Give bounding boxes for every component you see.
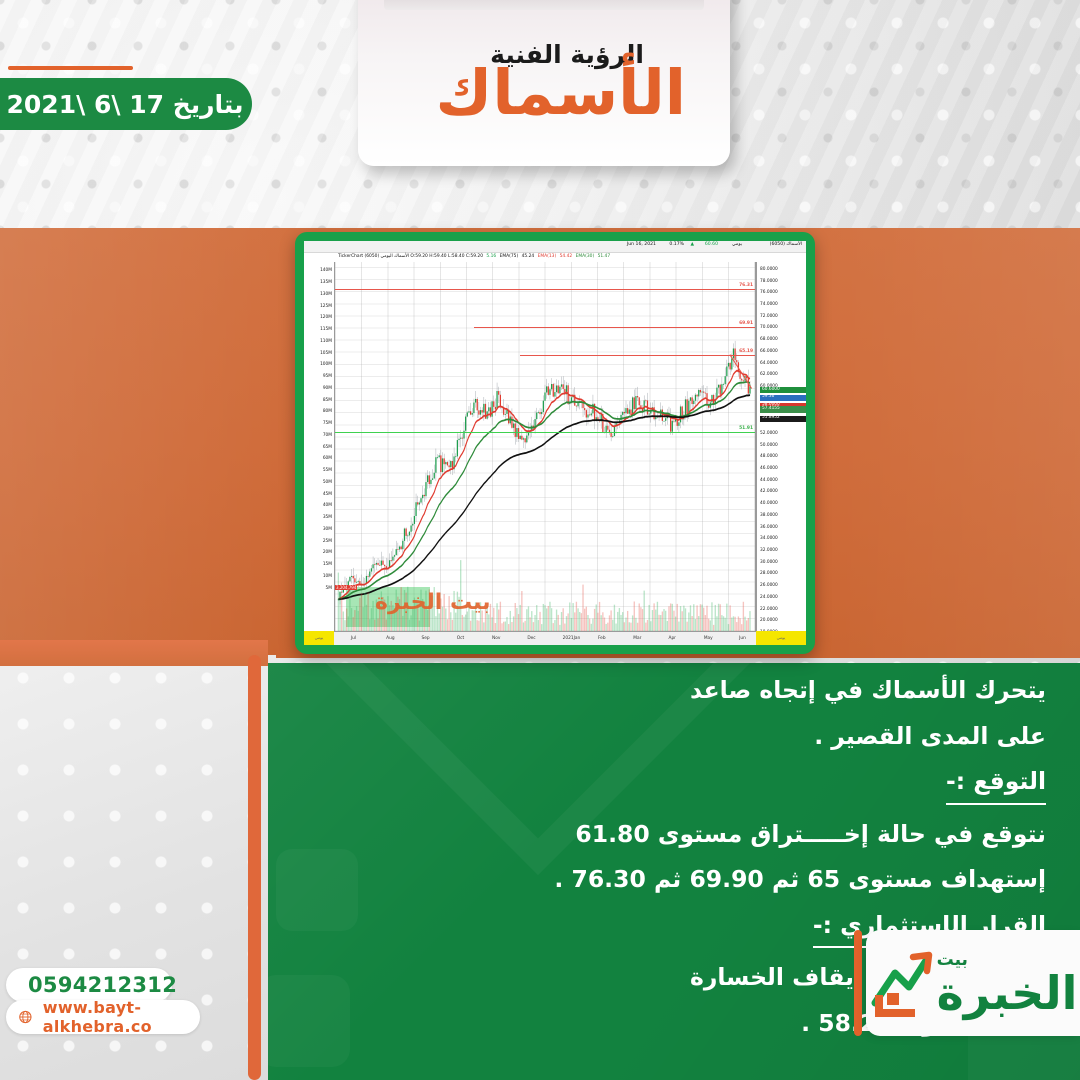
time-axis-right-corner: يومي bbox=[756, 631, 806, 645]
time-axis: JulAugSepOctNovDec2021JanFebMarAprMayJun bbox=[334, 631, 756, 645]
chart-change-arrow-icon: ▲ bbox=[690, 243, 694, 248]
analysis-line-5: إستهداف مستوى 65 ثم 69.90 ثم 76.30 . bbox=[316, 868, 1046, 892]
price-tag: 57.4155 bbox=[760, 406, 806, 412]
price-tick: 42.0000 bbox=[760, 490, 778, 494]
level-line-resistance bbox=[474, 327, 755, 328]
price-tick: 70.0000 bbox=[760, 326, 778, 330]
chart-legend-ema30-value: 51.47 bbox=[598, 254, 611, 259]
price-tick: 44.0000 bbox=[760, 479, 778, 483]
level-line-support bbox=[335, 432, 755, 433]
price-tag: 55.8952 bbox=[760, 416, 806, 422]
ema-line-30 bbox=[338, 382, 750, 599]
price-tick: 36.0000 bbox=[760, 526, 778, 530]
price-tick: 48.0000 bbox=[760, 455, 778, 459]
bottom-left-orange-bar bbox=[0, 640, 268, 666]
price-tick: 34.0000 bbox=[760, 537, 778, 541]
chart-canvas[interactable]: الأسماك (6050) يومي 60.60 ▲ 0.17% Jun 16… bbox=[304, 241, 806, 645]
price-tick: 46.0000 bbox=[760, 467, 778, 471]
volume-tick: 115M bbox=[320, 328, 332, 332]
price-tick: 74.0000 bbox=[760, 303, 778, 307]
whatsapp-number: 0594212312 bbox=[28, 973, 177, 997]
level-line-resistance bbox=[335, 289, 755, 290]
price-tick: 50.0000 bbox=[760, 444, 778, 448]
volume-tick: 55M bbox=[323, 469, 332, 473]
chart-symbol: الأسماك (6050) bbox=[770, 243, 802, 248]
price-tick: 40.0000 bbox=[760, 502, 778, 506]
volume-tick: 45M bbox=[323, 493, 332, 497]
time-tick: Nov bbox=[492, 636, 500, 641]
logo-orange-accent bbox=[854, 930, 862, 1036]
chart-legend-ema75-value: 45.24 bbox=[522, 254, 535, 259]
price-tick: 66.0000 bbox=[760, 350, 778, 354]
volume-tick: 50M bbox=[323, 481, 332, 485]
price-tag: 59.36 bbox=[760, 395, 806, 401]
time-tick: Feb bbox=[598, 636, 606, 641]
volume-tick: 15M bbox=[323, 563, 332, 567]
volume-tick: 35M bbox=[323, 516, 332, 520]
chart-legend-ema75: EMA(75) bbox=[500, 254, 519, 259]
price-tick: 38.0000 bbox=[760, 514, 778, 518]
analysis-line-4: نتوقع في حالة إخـــــتراق مستوى 61.80 bbox=[316, 823, 1046, 847]
volume-tick: 105M bbox=[320, 352, 332, 356]
page-title: الأسماك bbox=[436, 62, 686, 124]
chart-legend-ohlc: TickerChart الأسماك اليومي (6050) O:59.2… bbox=[338, 254, 483, 259]
price-tick: 72.0000 bbox=[760, 315, 778, 319]
volume-tick: 5M bbox=[326, 587, 332, 591]
vertical-orange-divider bbox=[248, 655, 261, 1080]
chart-legend-ema13: EMA(13) bbox=[538, 254, 557, 259]
time-axis-left-corner: يومي bbox=[304, 631, 334, 645]
logo-word-main: الخبرة bbox=[937, 970, 1078, 1016]
price-tick: 22.0000 bbox=[760, 608, 778, 612]
price-tick: 68.0000 bbox=[760, 338, 778, 342]
volume-tick: 100M bbox=[320, 363, 332, 367]
level-label: 51.91 bbox=[739, 426, 753, 431]
chart-legend-ema30: EMA(30) bbox=[576, 254, 595, 259]
volume-axis: 140M135M130M125M120M115M110M105M100M95M9… bbox=[304, 262, 334, 631]
price-tick: 32.0000 bbox=[760, 549, 778, 553]
time-tick: Mar bbox=[633, 636, 641, 641]
price-tick: 24.0000 bbox=[760, 596, 778, 600]
chart-last-price: 60.60 bbox=[705, 243, 718, 248]
volume-tick: 120M bbox=[320, 316, 332, 320]
ema-line-75 bbox=[338, 395, 750, 599]
price-tick: 52.0000 bbox=[760, 432, 778, 436]
price-tag: 60.6000 bbox=[760, 387, 806, 393]
analysis-heading-forecast: التوقع :- bbox=[946, 770, 1046, 805]
volume-tick: 75M bbox=[323, 422, 332, 426]
volume-tick: 125M bbox=[320, 305, 332, 309]
volume-tick: 140M bbox=[320, 269, 332, 273]
whatsapp-contact-pill[interactable]: 0594212312 bbox=[6, 968, 172, 1002]
price-axis: 80.000078.000076.000074.000072.000070.00… bbox=[756, 262, 806, 631]
date-accent-rule bbox=[8, 66, 133, 70]
volume-tick: 110M bbox=[320, 340, 332, 344]
price-tick: 78.0000 bbox=[760, 280, 778, 284]
poster-canvas: يتحرك الأسماك في إتجاه صاعد على المدى ال… bbox=[0, 0, 1080, 1080]
globe-icon bbox=[18, 1006, 33, 1028]
date-badge: بتاريخ 17 \6 \2021 bbox=[0, 78, 252, 130]
chart-change-pct: 0.17% bbox=[669, 243, 684, 248]
title-card-notch bbox=[384, 0, 704, 10]
volume-tick: 70M bbox=[323, 434, 332, 438]
analysis-line-2: على المدى القصير . bbox=[316, 725, 1046, 749]
time-tick: Sep bbox=[421, 636, 429, 641]
level-line-resistance bbox=[520, 355, 755, 356]
chart-symbol-icon: يومي bbox=[732, 243, 742, 248]
brand-logo[interactable]: بيت الخبرة bbox=[866, 930, 1080, 1036]
chart-legend-ema13-value: 54.42 bbox=[560, 254, 573, 259]
website-contact-pill[interactable]: www.bayt-alkhebra.co bbox=[6, 1000, 200, 1034]
price-tick: 62.0000 bbox=[760, 373, 778, 377]
website-url: www.bayt-alkhebra.co bbox=[43, 998, 182, 1036]
level-label: 65.19 bbox=[739, 349, 753, 354]
volume-tick: 10M bbox=[323, 575, 332, 579]
time-tick: Aug bbox=[386, 636, 394, 641]
price-tick: 76.0000 bbox=[760, 291, 778, 295]
candlestick-series bbox=[338, 341, 751, 605]
volume-tick: 85M bbox=[323, 399, 332, 403]
volume-tick: 25M bbox=[323, 540, 332, 544]
chart-legend: TickerChart الأسماك اليومي (6050) O:59.2… bbox=[338, 255, 612, 259]
time-tick: Jun bbox=[739, 636, 746, 641]
level-label: 76.31 bbox=[739, 283, 753, 288]
volume-tick: 60M bbox=[323, 457, 332, 461]
price-tick: 30.0000 bbox=[760, 561, 778, 565]
volume-value-tag: 3,204,794 bbox=[335, 585, 357, 590]
chart-quote-date: Jun 16, 2021 bbox=[627, 243, 656, 248]
time-tick: 2021Jan bbox=[563, 636, 581, 641]
time-tick: May bbox=[704, 636, 713, 641]
time-tick: Apr bbox=[669, 636, 676, 641]
time-tick: Jul bbox=[351, 636, 356, 641]
volume-tick: 130M bbox=[320, 293, 332, 297]
volume-tick: 135M bbox=[320, 281, 332, 285]
level-label: 69.91 bbox=[739, 321, 753, 326]
volume-tick: 80M bbox=[323, 410, 332, 414]
price-tick: 26.0000 bbox=[760, 584, 778, 588]
volume-tick: 90M bbox=[323, 387, 332, 391]
volume-tick: 20M bbox=[323, 551, 332, 555]
chart-frame: الأسماك (6050) يومي 60.60 ▲ 0.17% Jun 16… bbox=[295, 232, 815, 654]
chart-quote-bar: الأسماك (6050) يومي 60.60 ▲ 0.17% Jun 16… bbox=[304, 241, 806, 253]
analysis-line-1: يتحرك الأسماك في إتجاه صاعد bbox=[316, 679, 1046, 703]
price-tick: 64.0000 bbox=[760, 362, 778, 366]
chart-plot-area[interactable]: بيت الخبرة 3,204,794 2020-12-15 14:00:00… bbox=[334, 262, 756, 631]
volume-tick: 30M bbox=[323, 528, 332, 532]
time-tick: Oct bbox=[457, 636, 464, 641]
price-tick: 20.0000 bbox=[760, 619, 778, 623]
chart-series-svg bbox=[335, 262, 755, 631]
growth-arrow-icon bbox=[869, 947, 935, 1019]
title-card: الرؤية الفنية الأسماك bbox=[358, 0, 730, 166]
volume-tick: 65M bbox=[323, 446, 332, 450]
time-tick: Dec bbox=[527, 636, 535, 641]
volume-tick: 40M bbox=[323, 504, 332, 508]
chart-watermark: بيت الخبرة bbox=[375, 590, 491, 615]
price-tick: 28.0000 bbox=[760, 572, 778, 576]
price-tick: 80.0000 bbox=[760, 268, 778, 272]
volume-tick: 95M bbox=[323, 375, 332, 379]
